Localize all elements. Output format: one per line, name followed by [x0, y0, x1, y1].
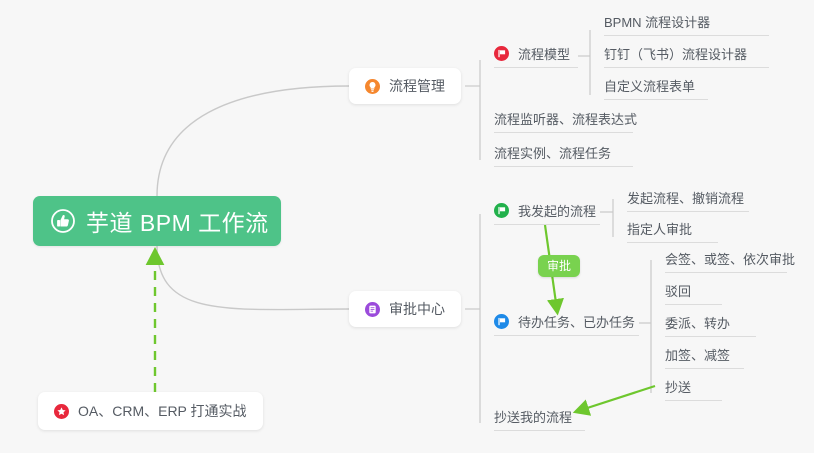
- leaf-label-delegate-transfer: 委派、转办: [665, 313, 730, 332]
- leaf-instance-task[interactable]: 流程实例、流程任务: [494, 141, 633, 167]
- leaf-listener-expression[interactable]: 流程监听器、流程表达式: [494, 107, 633, 133]
- branch-label-process-management: 流程管理: [389, 76, 445, 96]
- leaf-label-reject: 驳回: [665, 281, 691, 300]
- leaf-label-start-cancel: 发起流程、撤销流程: [627, 188, 744, 207]
- leaf-label-custom-process-form: 自定义流程表单: [604, 76, 695, 95]
- flag-icon: [494, 46, 509, 61]
- branch-label-approval-center: 审批中心: [389, 299, 445, 319]
- leaf-process-model[interactable]: 流程模型: [494, 42, 578, 68]
- leaf-label-assignee-approval: 指定人审批: [627, 219, 692, 238]
- thumbs-up-icon: [51, 209, 75, 233]
- connector-root-to-process-management: [157, 86, 349, 196]
- leaf-label-bpmn-designer: BPMN 流程设计器: [604, 12, 710, 31]
- root-node[interactable]: 芋道 BPM 工作流: [33, 196, 281, 246]
- bottom-node-label: OA、CRM、ERP 打通实战: [78, 401, 247, 421]
- leaf-label-add-remove-sign: 加签、减签: [665, 345, 730, 364]
- leaf-label-todo-done: 待办任务、已办任务: [518, 312, 635, 331]
- leaf-dingtalk-feishu-designer[interactable]: 钉钉（飞书）流程设计器: [604, 42, 769, 68]
- leaf-label-my-initiated: 我发起的流程: [518, 201, 596, 220]
- leaf-label-countersign: 会签、或签、依次审批: [665, 249, 795, 268]
- root-label: 芋道 BPM 工作流: [86, 204, 269, 238]
- clipboard-icon: [365, 302, 380, 317]
- leaf-add-remove-sign[interactable]: 加签、减签: [665, 343, 744, 369]
- leaf-cc[interactable]: 抄送: [665, 375, 722, 401]
- connector-root-to-approval-center: [157, 246, 349, 310]
- leaf-label-cc-to-me: 抄送我的流程: [494, 407, 572, 426]
- annotation-arrow-cc: [578, 386, 655, 411]
- branch-node-process-management[interactable]: 流程管理: [349, 68, 461, 104]
- flag-icon: [494, 203, 509, 218]
- leaf-start-cancel[interactable]: 发起流程、撤销流程: [627, 186, 749, 212]
- leaf-label-listener-expression: 流程监听器、流程表达式: [494, 109, 637, 128]
- leaf-reject[interactable]: 驳回: [665, 279, 722, 305]
- leaf-label-process-model: 流程模型: [518, 44, 570, 63]
- leaf-assignee-approval[interactable]: 指定人审批: [627, 217, 718, 243]
- bottom-node-integration[interactable]: OA、CRM、ERP 打通实战: [38, 392, 263, 430]
- lightbulb-icon: [365, 79, 380, 94]
- leaf-bpmn-designer[interactable]: BPMN 流程设计器: [604, 10, 769, 36]
- leaf-cc-to-me[interactable]: 抄送我的流程: [494, 405, 585, 431]
- leaf-custom-process-form[interactable]: 自定义流程表单: [604, 74, 708, 100]
- branch-node-approval-center[interactable]: 审批中心: [349, 291, 461, 327]
- leaf-my-initiated[interactable]: 我发起的流程: [494, 199, 600, 225]
- leaf-label-cc: 抄送: [665, 377, 691, 396]
- leaf-label-dingtalk-feishu-designer: 钉钉（飞书）流程设计器: [604, 44, 747, 63]
- flag-icon: [494, 314, 509, 329]
- leaf-todo-done[interactable]: 待办任务、已办任务: [494, 310, 639, 336]
- annotation-chip-approval: 审批: [538, 255, 580, 277]
- annotation-chip-label: 审批: [547, 259, 571, 273]
- star-icon: [54, 404, 69, 419]
- mindmap-canvas: 芋道 BPM 工作流 流程管理 流程模型 BPMN 流程设计器 钉钉（飞书）流: [0, 0, 814, 453]
- leaf-delegate-transfer[interactable]: 委派、转办: [665, 311, 756, 337]
- leaf-countersign[interactable]: 会签、或签、依次审批: [665, 247, 787, 273]
- leaf-label-instance-task: 流程实例、流程任务: [494, 143, 611, 162]
